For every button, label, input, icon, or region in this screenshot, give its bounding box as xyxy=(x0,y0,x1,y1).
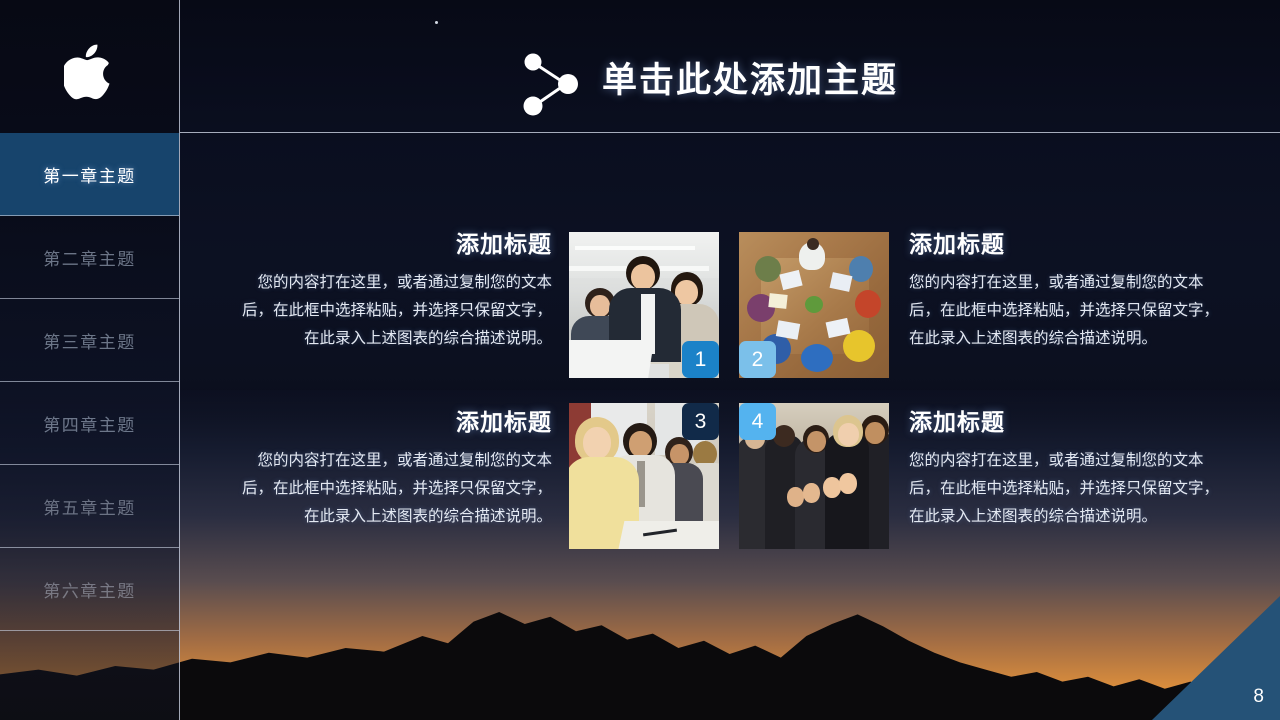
sidebar: 第一章主题 第二章主题 第三章主题 第四章主题 第五章主题 第六章主题 xyxy=(0,0,180,720)
content-block-2: 添加标题 您的内容打在这里，或者通过复制您的文本后，在此框中选择粘贴，并选择只保… xyxy=(909,225,1221,353)
sidebar-item-chapter-1[interactable]: 第一章主题 xyxy=(0,133,179,216)
sidebar-item-label: 第五章主题 xyxy=(43,494,136,519)
sidebar-item-label: 第六章主题 xyxy=(43,577,136,602)
thumbnail-2[interactable]: 2 xyxy=(739,232,889,378)
content-block-3: 添加标题 您的内容打在这里，或者通过复制您的文本后，在此框中选择粘贴，并选择只保… xyxy=(240,403,552,531)
share-network-icon xyxy=(518,48,588,120)
content-block-title: 添加标题 xyxy=(909,403,1221,437)
content-block-body: 您的内容打在这里，或者通过复制您的文本后，在此框中选择粘贴，并选择只保留文字，在… xyxy=(240,269,552,353)
content-block-title: 添加标题 xyxy=(240,403,552,437)
slide-content: 添加标题 您的内容打在这里，或者通过复制您的文本后，在此框中选择粘贴，并选择只保… xyxy=(180,133,1280,720)
page-title: 单击此处添加主题 xyxy=(602,52,898,103)
sidebar-item-chapter-6[interactable]: 第六章主题 xyxy=(0,548,179,631)
content-block-1: 添加标题 您的内容打在这里，或者通过复制您的文本后，在此框中选择粘贴，并选择只保… xyxy=(240,225,552,353)
sidebar-tail-spacer xyxy=(0,631,179,717)
content-block-4: 添加标题 您的内容打在这里，或者通过复制您的文本后，在此框中选择粘贴，并选择只保… xyxy=(909,403,1221,531)
thumbnail-1[interactable]: 1 xyxy=(569,232,719,378)
content-block-body: 您的内容打在这里，或者通过复制您的文本后，在此框中选择粘贴，并选择只保留文字，在… xyxy=(909,447,1221,531)
sidebar-item-chapter-3[interactable]: 第三章主题 xyxy=(0,299,179,382)
apple-logo-icon xyxy=(64,44,116,104)
thumbnail-4[interactable]: 4 xyxy=(739,403,889,549)
thumbnail-badge-3: 3 xyxy=(682,403,719,440)
sidebar-item-label: 第三章主题 xyxy=(43,328,136,353)
sidebar-item-chapter-4[interactable]: 第四章主题 xyxy=(0,382,179,465)
content-block-body: 您的内容打在这里，或者通过复制您的文本后，在此框中选择粘贴，并选择只保留文字，在… xyxy=(240,447,552,531)
sidebar-item-label: 第二章主题 xyxy=(43,245,136,270)
sidebar-item-chapter-2[interactable]: 第二章主题 xyxy=(0,216,179,299)
thumbnail-badge-4: 4 xyxy=(739,403,776,440)
thumbnail-3[interactable]: 3 xyxy=(569,403,719,549)
sidebar-item-chapter-5[interactable]: 第五章主题 xyxy=(0,465,179,548)
content-block-body: 您的内容打在这里，或者通过复制您的文本后，在此框中选择粘贴，并选择只保留文字，在… xyxy=(909,269,1221,353)
slide-header: 单击此处添加主题 xyxy=(180,0,1280,133)
sidebar-item-label: 第一章主题 xyxy=(43,162,136,187)
sidebar-nav: 第一章主题 第二章主题 第三章主题 第四章主题 第五章主题 第六章主题 xyxy=(0,133,179,717)
presentation-slide: 第一章主题 第二章主题 第三章主题 第四章主题 第五章主题 第六章主题 xyxy=(0,0,1280,720)
thumbnail-badge-1: 1 xyxy=(682,341,719,378)
content-block-title: 添加标题 xyxy=(909,225,1221,259)
sidebar-item-label: 第四章主题 xyxy=(43,411,136,436)
content-block-title: 添加标题 xyxy=(240,225,552,259)
page-number: 8 xyxy=(1253,686,1264,708)
thumbnail-badge-2: 2 xyxy=(739,341,776,378)
